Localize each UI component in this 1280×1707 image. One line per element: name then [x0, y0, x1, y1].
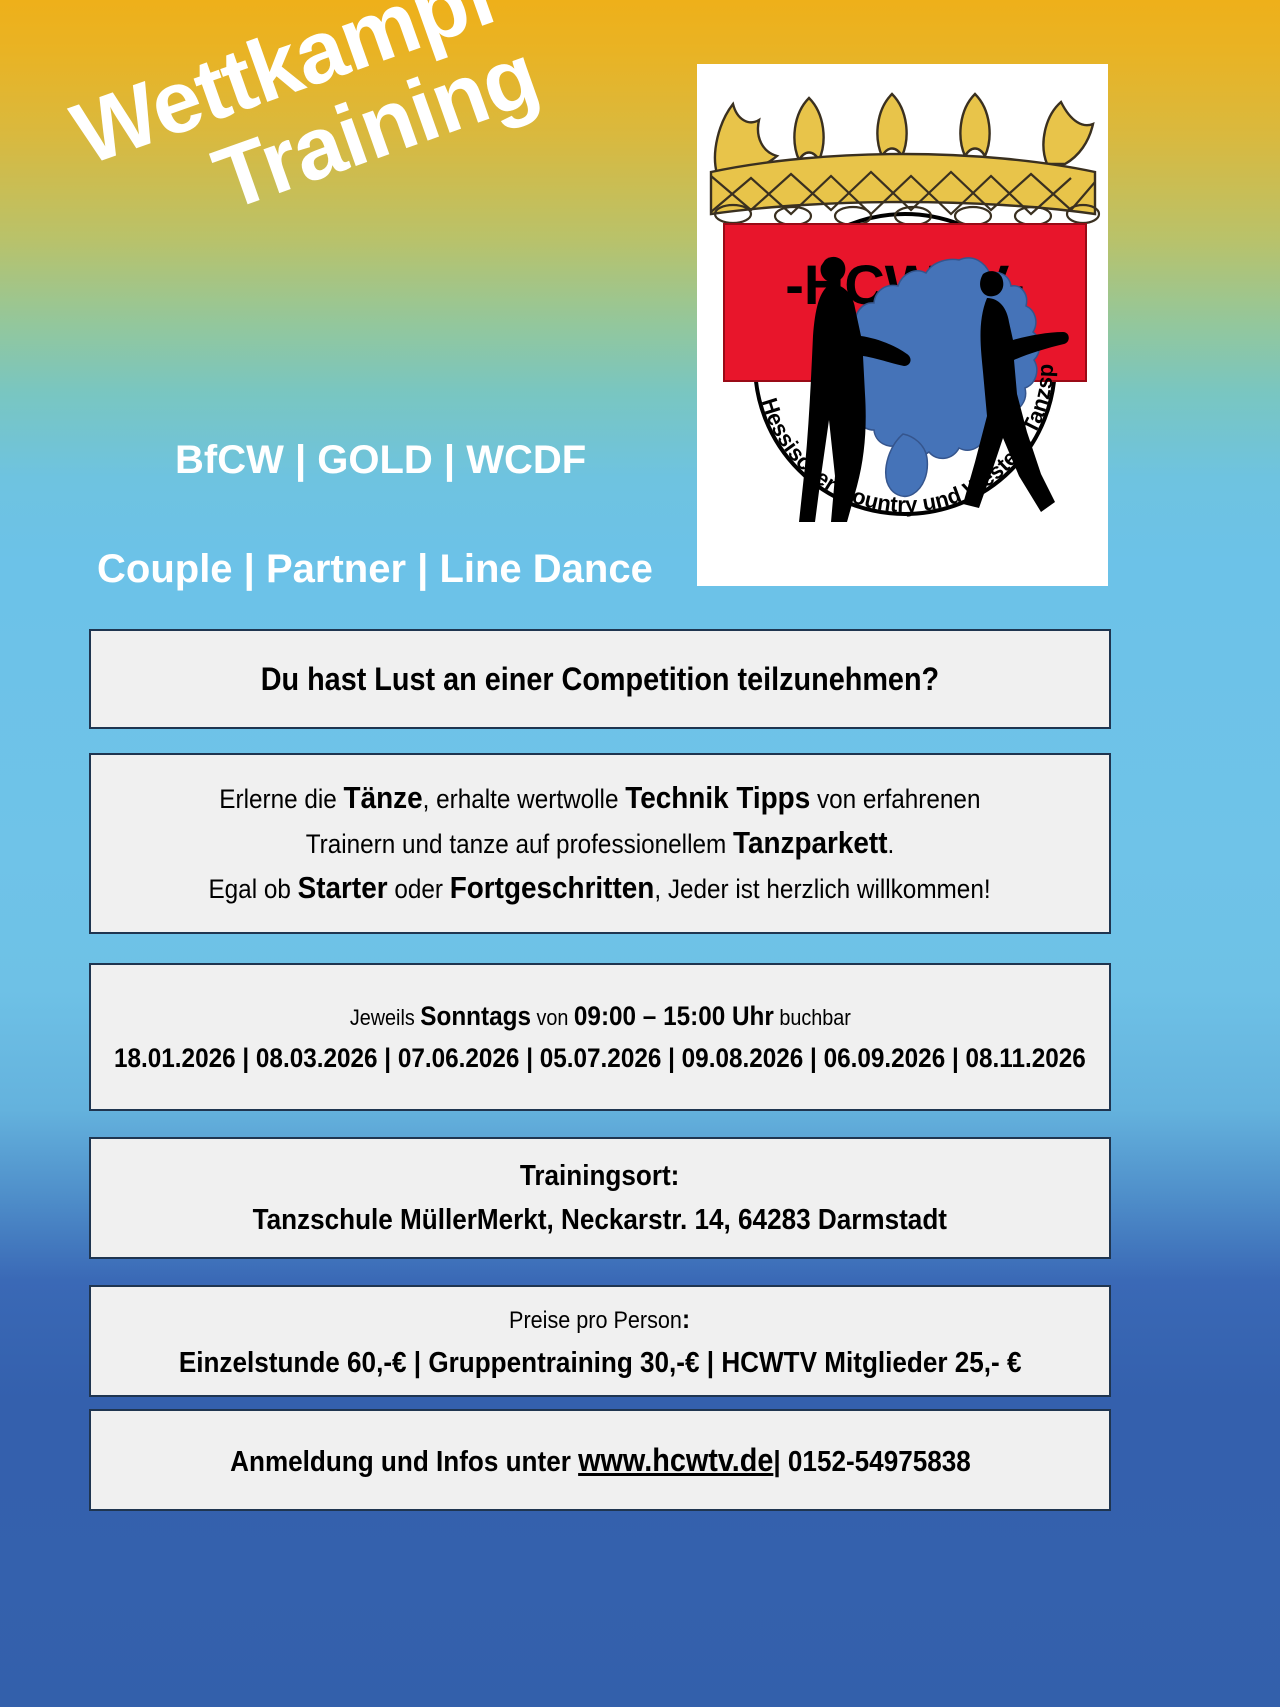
desc-l1-d: Technik Tipps	[625, 780, 810, 815]
poster-canvas: Wettkampf Training BfCW | GOLD | WCDF Co…	[0, 0, 1280, 1707]
contact-prefix: Anmeldung und Infos unter	[230, 1446, 578, 1478]
schedule-dates: 18.01.2026 | 08.03.2026 | 07.06.2026 | 0…	[114, 1038, 1086, 1078]
schedule-time: 09:00 – 15:00 Uhr	[574, 1001, 774, 1031]
box-prices: Preise pro Person: Einzelstunde 60,-€ | …	[89, 1285, 1111, 1397]
schedule-prefix: Jeweils	[349, 1005, 419, 1030]
prices-label: Preise pro Person	[510, 1307, 683, 1334]
subtitle-dance-styles: Couple | Partner | Line Dance	[97, 547, 653, 592]
poster-headline: Wettkampf Training	[62, 0, 688, 264]
desc-l3-d: Fortgeschritten	[450, 870, 655, 905]
desc-l1-a: Erlerne die	[219, 784, 343, 814]
box-schedule: Jeweils Sonntags von 09:00 – 15:00 Uhr b…	[89, 963, 1111, 1111]
desc-l2-c: .	[888, 829, 895, 859]
website-link[interactable]: www.hcwtv.de	[578, 1442, 773, 1478]
desc-l2-a: Trainern und tanze auf professionellem	[306, 829, 733, 859]
subtitle-divisions: BfCW | GOLD | WCDF	[175, 438, 586, 483]
desc-l1-e: von erfahrenen	[810, 784, 980, 814]
desc-l3-c: oder	[388, 874, 450, 904]
desc-l1-c: , erhalte wertwolle	[423, 784, 626, 814]
contact-phone[interactable]: | 0152-54975838	[773, 1446, 970, 1478]
prices-colon: :	[682, 1304, 690, 1334]
desc-l3-a: Egal ob	[209, 874, 298, 904]
desc-l3-b: Starter	[298, 870, 388, 905]
hcwtv-logo: -HCWTV- Hessischer Country und Western T…	[697, 64, 1108, 586]
box-contact: Anmeldung und Infos unter www.hcwtv.de| …	[89, 1409, 1111, 1511]
location-label: Trainingsort:	[520, 1154, 680, 1198]
location-address: Tanzschule MüllerMerkt, Neckarstr. 14, 6…	[253, 1198, 947, 1242]
desc-l1-b: Tänze	[344, 780, 423, 815]
desc-l3-e: , Jeder ist herzlich willkommen!	[655, 874, 991, 904]
box-location: Trainingsort: Tanzschule MüllerMerkt, Ne…	[89, 1137, 1111, 1259]
desc-l2-b: Tanzparkett	[733, 825, 888, 860]
prices-values: Einzelstunde 60,-€ | Gruppentraining 30,…	[179, 1342, 1022, 1384]
schedule-mid: von	[531, 1005, 574, 1030]
crown-icon	[711, 94, 1095, 214]
schedule-day: Sonntags	[420, 1001, 531, 1031]
question-text: Du hast Lust an einer Competition teilzu…	[261, 661, 939, 698]
box-description: Erlerne die Tänze, erhalte wertwolle Tec…	[89, 753, 1111, 934]
box-question: Du hast Lust an einer Competition teilzu…	[89, 629, 1111, 729]
schedule-suffix: buchbar	[773, 1005, 850, 1030]
